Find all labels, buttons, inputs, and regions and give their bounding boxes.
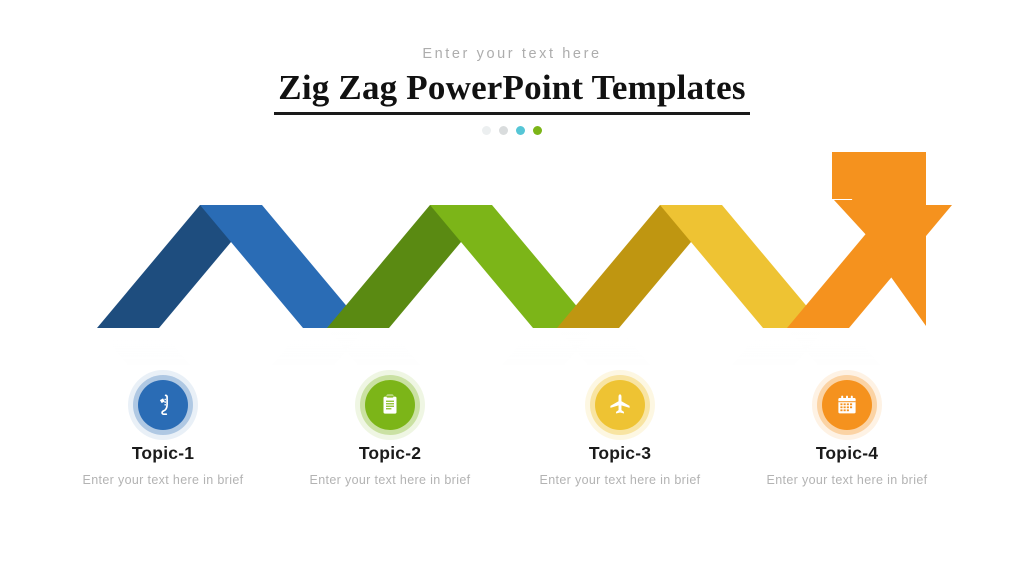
caption-title-1: Topic-1	[48, 443, 278, 464]
zigzag-arrow-diagram	[0, 140, 1024, 365]
caption-topic-3: Topic-3 Enter your text here in brief	[505, 443, 735, 487]
caption-title-3: Topic-3	[505, 443, 735, 464]
icon-disc-4	[822, 380, 872, 430]
zigzag-green-light	[430, 205, 595, 328]
calendar-icon	[835, 393, 859, 417]
caption-subtitle-1: Enter your text here in brief	[48, 473, 278, 487]
dot-indicator-group	[0, 126, 1024, 135]
icon-disc-2	[365, 380, 415, 430]
icon-node-topic-4[interactable]	[812, 370, 882, 440]
caption-topic-2: Topic-2 Enter your text here in brief	[275, 443, 505, 487]
saxophone-icon	[151, 393, 175, 417]
icon-disc-1	[138, 380, 188, 430]
caption-subtitle-4: Enter your text here in brief	[732, 473, 962, 487]
zigzag-yellow-light	[660, 205, 825, 328]
icon-node-topic-3[interactable]	[585, 370, 655, 440]
caption-subtitle-3: Enter your text here in brief	[505, 473, 735, 487]
caption-topic-1: Topic-1 Enter your text here in brief	[48, 443, 278, 487]
icon-row	[0, 370, 1024, 440]
dot-3	[516, 126, 525, 135]
eyebrow-text: Enter your text here	[0, 46, 1024, 62]
caption-topic-4: Topic-4 Enter your text here in brief	[732, 443, 962, 487]
page-title-text: Zig Zag PowerPoint Templates	[278, 68, 745, 108]
icon-node-topic-1[interactable]	[128, 370, 198, 440]
dot-4	[533, 126, 542, 135]
airplane-icon	[607, 392, 633, 418]
icon-disc-3	[595, 380, 645, 430]
dot-2	[499, 126, 508, 135]
slide-canvas: Enter your text here Zig Zag PowerPoint …	[0, 0, 1024, 576]
zigzag-reflection	[97, 328, 952, 365]
page-title: Zig Zag PowerPoint Templates	[274, 68, 749, 115]
caption-subtitle-2: Enter your text here in brief	[275, 473, 505, 487]
dot-1	[482, 126, 491, 135]
clipboard-icon	[378, 393, 402, 417]
caption-title-4: Topic-4	[732, 443, 962, 464]
zigzag-blue-light	[200, 205, 365, 328]
icon-node-topic-2[interactable]	[355, 370, 425, 440]
slide-header: Enter your text here Zig Zag PowerPoint …	[0, 0, 1024, 135]
caption-title-2: Topic-2	[275, 443, 505, 464]
